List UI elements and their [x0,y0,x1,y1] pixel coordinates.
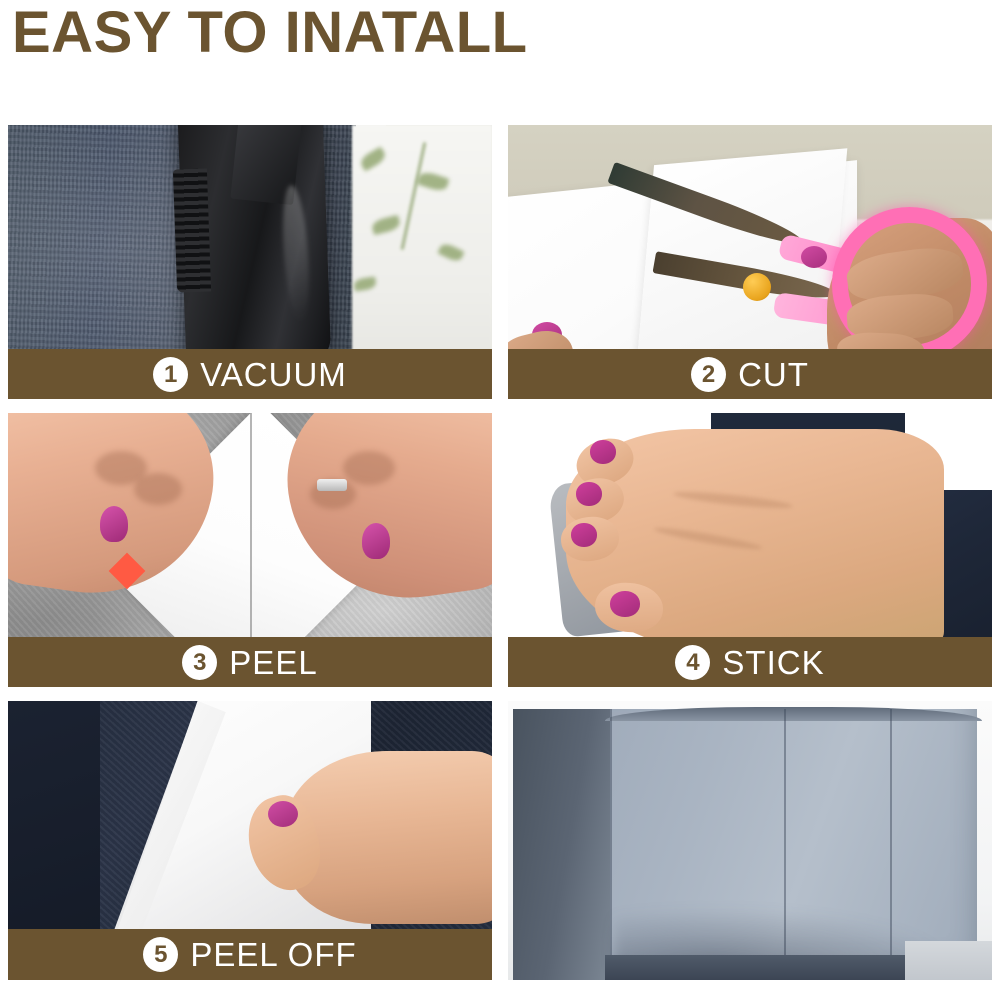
step-label-text: PEEL [229,646,317,679]
fingernail-pink [100,506,128,542]
panel-seam [610,709,612,971]
step-panel-stick: 4 STICK [508,413,992,687]
step-label-bar-3: 3 PEEL [8,637,492,687]
step-label-text: PEEL OFF [190,938,356,971]
step-panel-vacuum: 1 VACUUM [8,125,492,399]
step-panel-peel: 3 PEEL [8,413,492,687]
step-number-badge: 5 [143,937,178,972]
scissors-pivot-screw [743,273,771,301]
product-infographic: EASY TO INATALL 1 VACUUM [0,0,1000,996]
floor-area [905,941,992,980]
fingernail-pink [362,523,390,559]
step-label-text: VACUUM [200,358,347,391]
knuckle-shading [134,473,182,505]
step-label-bar-5: 5 PEEL OFF [8,929,492,980]
furniture-side-panel [513,709,610,980]
step-label-bar-2: 2 CUT [508,349,992,399]
step-label-text: CUT [738,358,809,391]
fingernail-pink [801,246,827,268]
steps-grid: 1 VACUUM [8,125,992,991]
step-panel-peel-off: 5 PEEL OFF [8,701,492,980]
page-title: EASY TO INATALL [12,2,712,64]
step-image-result [508,701,992,980]
step-panel-cut: 2 CUT [508,125,992,399]
fingernail-pink [571,523,597,547]
finger-ring [317,479,347,491]
vacuum-brush-bristles [173,168,211,292]
step-number-badge: 3 [182,645,217,680]
step-label-text: STICK [722,646,824,679]
step-number-badge: 2 [691,357,726,392]
step-number-badge: 4 [675,645,710,680]
step-number-badge: 1 [153,357,188,392]
fingernail-pink [576,482,602,506]
step-panel-result [508,701,992,980]
step-label-bar-1: 1 VACUUM [8,349,492,399]
step-label-bar-4: 4 STICK [508,637,992,687]
fingernail-pink [610,591,640,617]
